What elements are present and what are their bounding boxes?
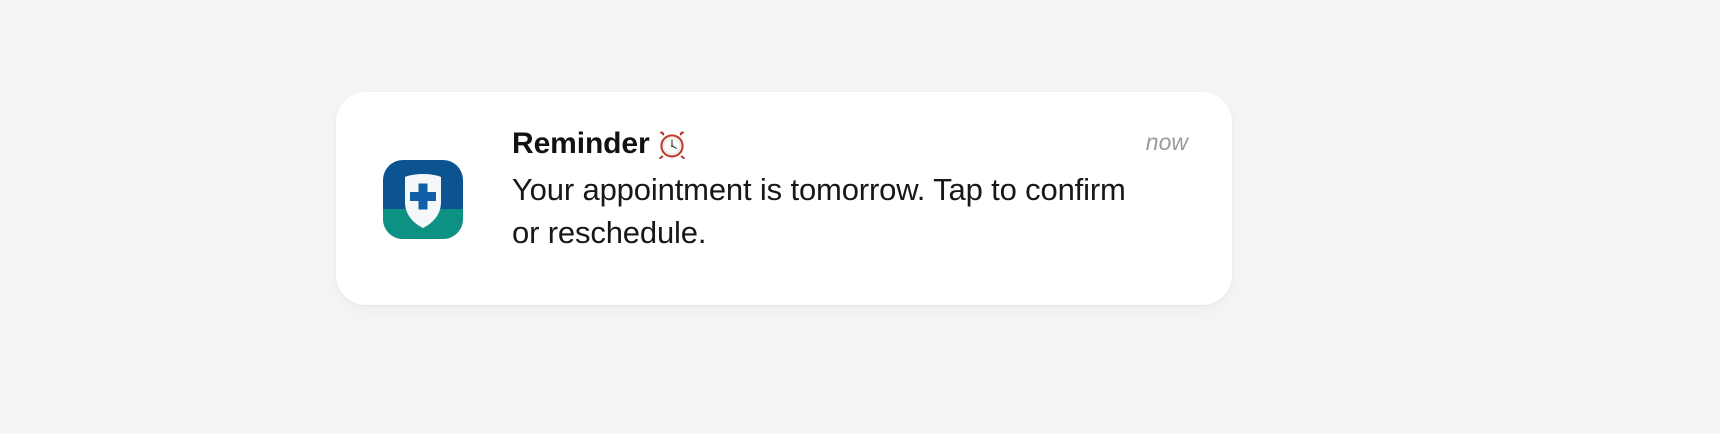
screen-root: Reminder <box>0 0 1720 434</box>
notification-content: Reminder <box>512 125 1192 254</box>
notification-header-row: Reminder <box>512 125 1192 163</box>
notification-timestamp: now <box>1146 125 1192 159</box>
notification-title: Reminder <box>512 125 650 163</box>
notification-card[interactable]: Reminder <box>336 92 1232 305</box>
shield-cross-glyph <box>383 160 463 239</box>
notification-title-group: Reminder <box>512 125 687 163</box>
health-shield-app-icon <box>383 160 463 239</box>
alarm-clock-emoji <box>657 130 687 160</box>
notification-body: Your appointment is tomorrow. Tap to con… <box>512 168 1142 254</box>
